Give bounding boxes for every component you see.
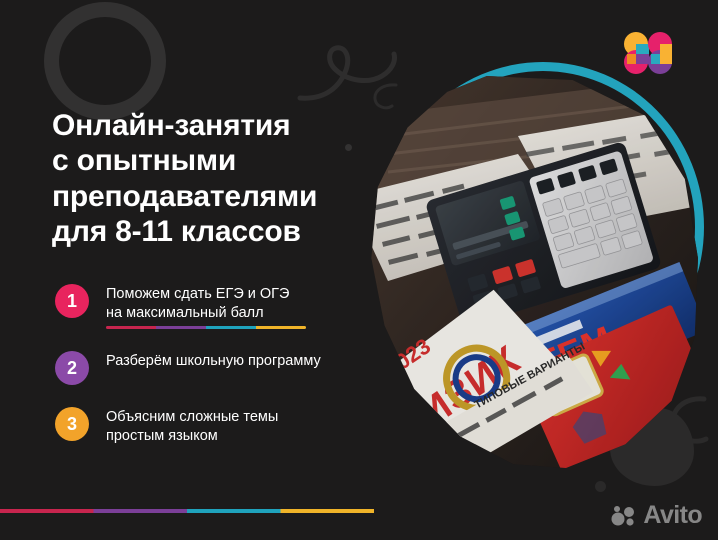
photo-illustration: МАТЕМ 36 ФИЗИК [368,76,698,472]
bullet-number-badge: 2 [55,351,89,385]
headline-line-4: для 8-11 классов [52,214,362,249]
benefits-list: 1 Поможем сдать ЕГЭ и ОГЭ на максимальны… [55,283,375,447]
list-item: 2 Разберём школьную программу [55,350,375,385]
bullet-number-badge: 3 [55,407,89,441]
hero-photo: МАТЕМ 36 ФИЗИК [368,62,718,480]
bullet-body: Поможем сдать ЕГЭ и ОГЭ на максимальный … [106,283,306,329]
bullet-text: Поможем сдать ЕГЭ и ОГЭ на максимальный … [106,285,306,323]
page-title: Онлайн-занятия с опытными преподавателям… [52,108,362,250]
bullet-text: Объясним сложные темы простым языком [106,408,278,446]
accent-bar [0,509,374,513]
bullet-text: Разберём школьную программу [106,352,321,371]
decorative-ring [44,2,166,120]
headline-line-2: с опытными [52,143,362,178]
avito-dots-icon [611,505,637,527]
list-item: 1 Поможем сдать ЕГЭ и ОГЭ на максимальны… [55,283,375,329]
headline-line-1: Онлайн-занятия [52,108,362,143]
bullet-body: Объясним сложные темы простым языком [106,406,278,446]
bullet-number-badge: 1 [55,284,89,318]
avito-watermark: Avito [611,503,702,528]
list-item: 3 Объясним сложные темы простым языком [55,406,375,446]
bullet-body: Разберём школьную программу [106,350,321,371]
promo-banner: МАТЕМ 36 ФИЗИК [0,0,718,540]
decorative-dot [595,481,606,492]
headline-line-3: преподавателями [52,179,362,214]
svg-text:ФИЗИКА: ФИЗИКА [387,418,443,458]
avito-wordmark: Avito [643,503,702,528]
bullet-accent-underline [106,326,306,329]
photo-mask: МАТЕМ 36 ФИЗИК [368,76,698,472]
